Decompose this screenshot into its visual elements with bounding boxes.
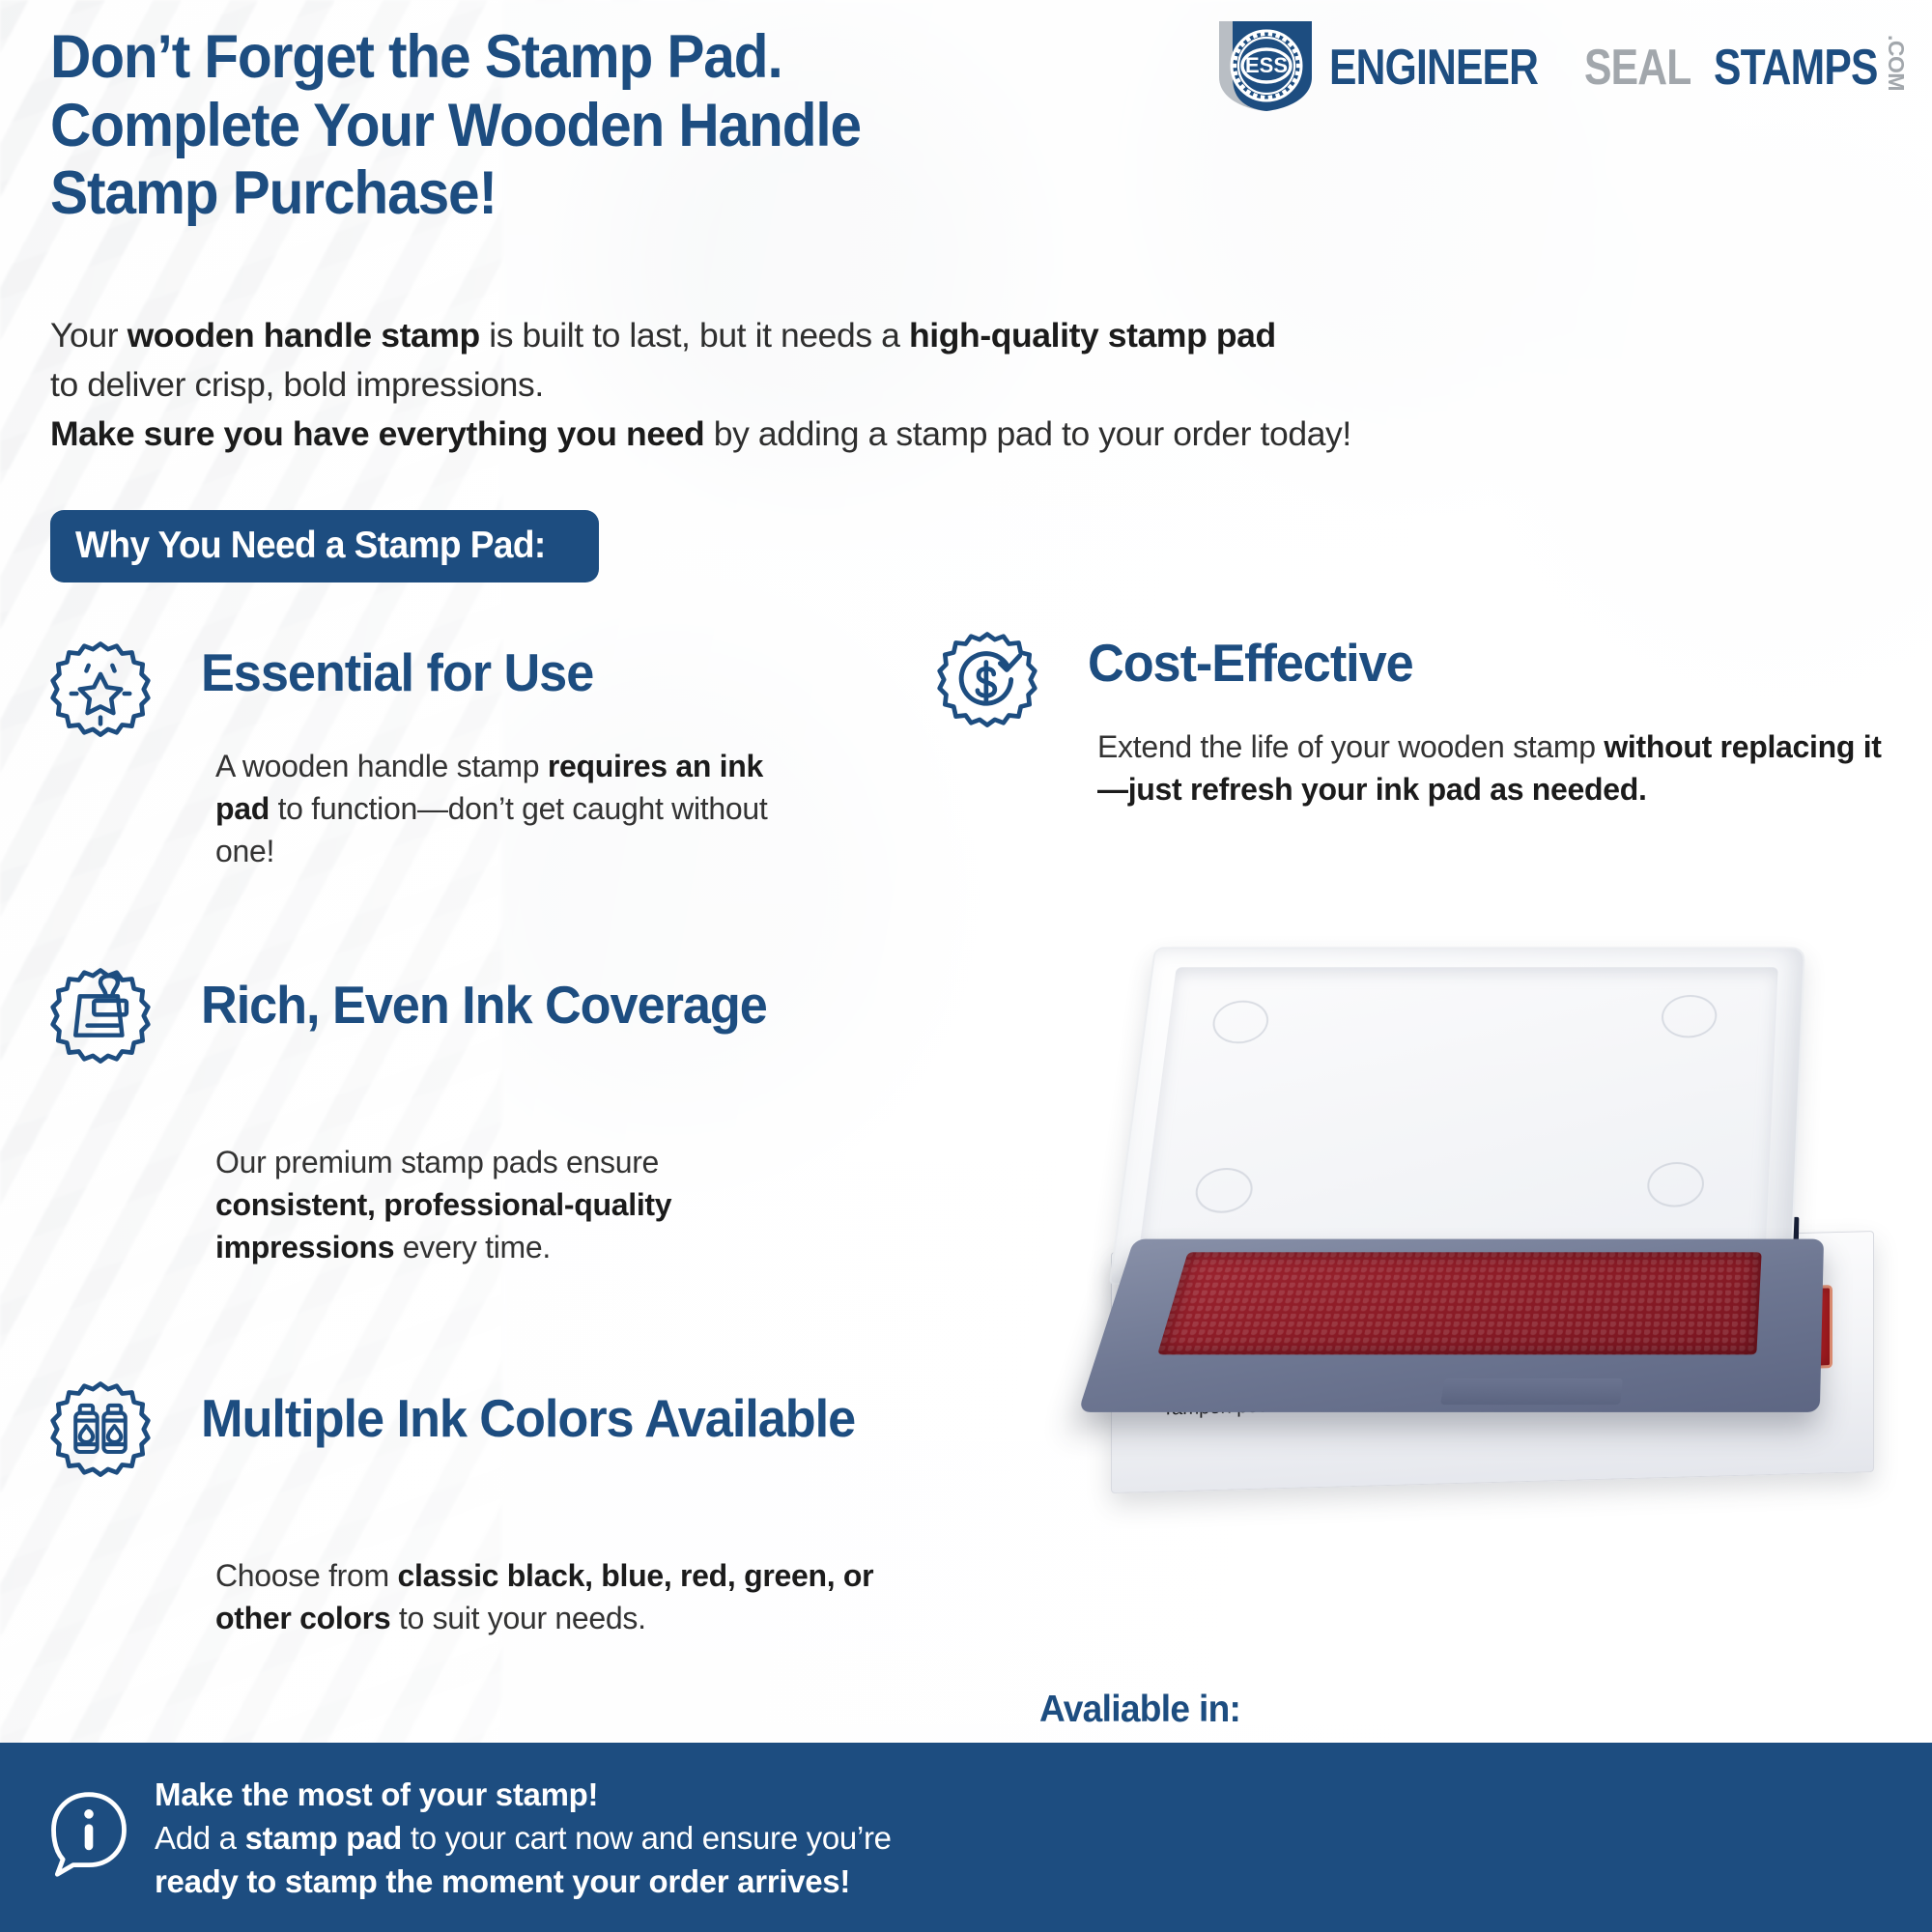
feature-body: A wooden handle stamp requires an ink pa… [215, 746, 814, 872]
stamp-pad-red-ink [1157, 1252, 1762, 1354]
section-badge-why-you-need: Why You Need a Stamp Pad: [50, 510, 599, 582]
footer-message: Make the most of your stamp! Add a stamp… [155, 1774, 1082, 1904]
logo-word-stamps: STAMPS [1714, 43, 1878, 93]
intro-paragraph: Your wooden handle stamp is built to las… [50, 311, 1789, 459]
logo-word-engineer: ENGINEER [1329, 43, 1538, 93]
ess-shield-icon: ESS [1206, 17, 1323, 114]
section-badge-label: Why You Need a Stamp Pad: [75, 526, 546, 564]
footer-cta-bar: Make the most of your stamp! Add a stamp… [0, 1743, 1932, 1932]
logo-word-seal: SEAL [1584, 43, 1690, 93]
lid-dimple [1646, 1162, 1705, 1207]
product-photo-stamp-pad: Stamp pad for rubber stamps Almohadilla … [1082, 942, 1913, 1541]
stamp-pad-thumb-notch [1440, 1378, 1623, 1405]
feature-title: Rich, Even Ink Coverage [201, 978, 819, 1034]
intro-line-3: Make sure you have everything you need b… [50, 410, 1789, 459]
brand-logo[interactable]: ESS ENGINEER SEAL STAMPS .COM [1206, 17, 1907, 114]
stamp-pad-lid [1109, 947, 1805, 1285]
feature-title: Essential for Use [201, 645, 819, 701]
logo-tld: .COM [1883, 35, 1909, 91]
feature-body: Choose from classic black, blue, red, gr… [215, 1555, 892, 1640]
lid-dimple [1661, 995, 1719, 1037]
page-title: Don’t Forget the Stamp Pad. Complete You… [50, 23, 1110, 228]
svg-text:ESS: ESS [1245, 53, 1288, 77]
feature-body: Extend the life of your wooden stamp wit… [1097, 726, 1889, 811]
lid-dimple [1193, 1168, 1255, 1213]
info-speech-bubble-icon [43, 1787, 135, 1880]
stamp-pad-lid-inner [1136, 967, 1778, 1272]
ink-bottles-badge-icon [46, 1379, 155, 1488]
intro-line-2: to deliver crisp, bold impressions. [50, 360, 1789, 410]
lid-dimple [1210, 1001, 1271, 1044]
stamp-pad-base [1078, 1239, 1824, 1412]
feature-title: Cost-Effective [1088, 636, 1687, 692]
footer-line-2: Add a stamp pad to your cart now and ens… [155, 1817, 1082, 1861]
available-in-title: Avaliable in: [1039, 1689, 1251, 1731]
feature-title: Multiple Ink Colors Available [201, 1391, 896, 1447]
footer-line-3: ready to stamp the moment your order arr… [155, 1861, 1082, 1904]
headline-line-1: Don’t Forget the Stamp Pad. [50, 23, 1110, 92]
logo-wordmark: ENGINEER SEAL STAMPS [1329, 41, 1914, 95]
headline-line-2: Complete Your Wooden Handle [50, 92, 1110, 160]
intro-line-1: Your wooden handle stamp is built to las… [50, 311, 1789, 360]
headline-line-3: Stamp Purchase! [50, 159, 1110, 228]
feature-body: Our premium stamp pads ensure consistent… [215, 1142, 814, 1268]
star-badge-icon [46, 639, 155, 748]
infographic-page: Don’t Forget the Stamp Pad. Complete You… [0, 0, 1932, 1932]
rubber-stamp-badge-icon [46, 966, 155, 1074]
dollar-check-badge-icon [933, 630, 1041, 738]
footer-line-1: Make the most of your stamp! [155, 1774, 1082, 1817]
